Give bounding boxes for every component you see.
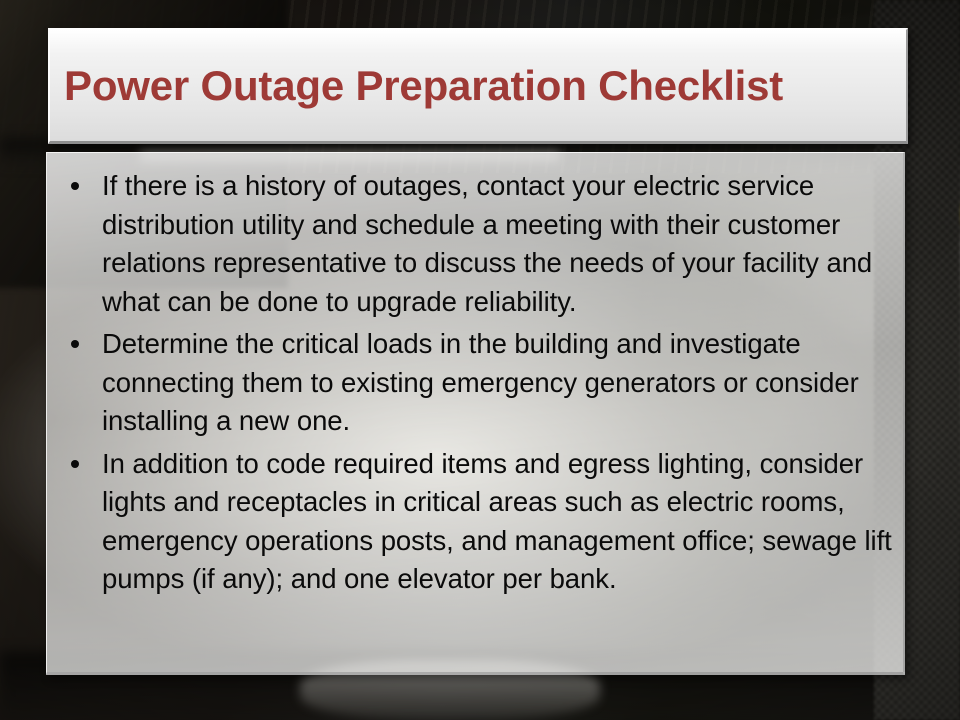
title-box: Power Outage Preparation Checklist: [48, 28, 908, 144]
list-item-text: If there is a history of outages, contac…: [102, 170, 872, 317]
slide-canvas: Power Outage Preparation Checklist If th…: [0, 0, 960, 720]
list-item: If there is a history of outages, contac…: [55, 167, 893, 321]
list-item: In addition to code required items and e…: [55, 445, 893, 599]
page-title: Power Outage Preparation Checklist: [50, 65, 783, 107]
list-item: Determine the critical loads in the buil…: [55, 325, 893, 441]
checklist: If there is a history of outages, contac…: [55, 167, 893, 599]
bullet-dot-icon: [71, 460, 79, 468]
content-panel: If there is a history of outages, contac…: [46, 152, 905, 675]
bullet-dot-icon: [71, 340, 79, 348]
list-item-text: Determine the critical loads in the buil…: [102, 328, 859, 436]
list-item-text: In addition to code required items and e…: [102, 448, 892, 595]
bullet-dot-icon: [71, 182, 79, 190]
